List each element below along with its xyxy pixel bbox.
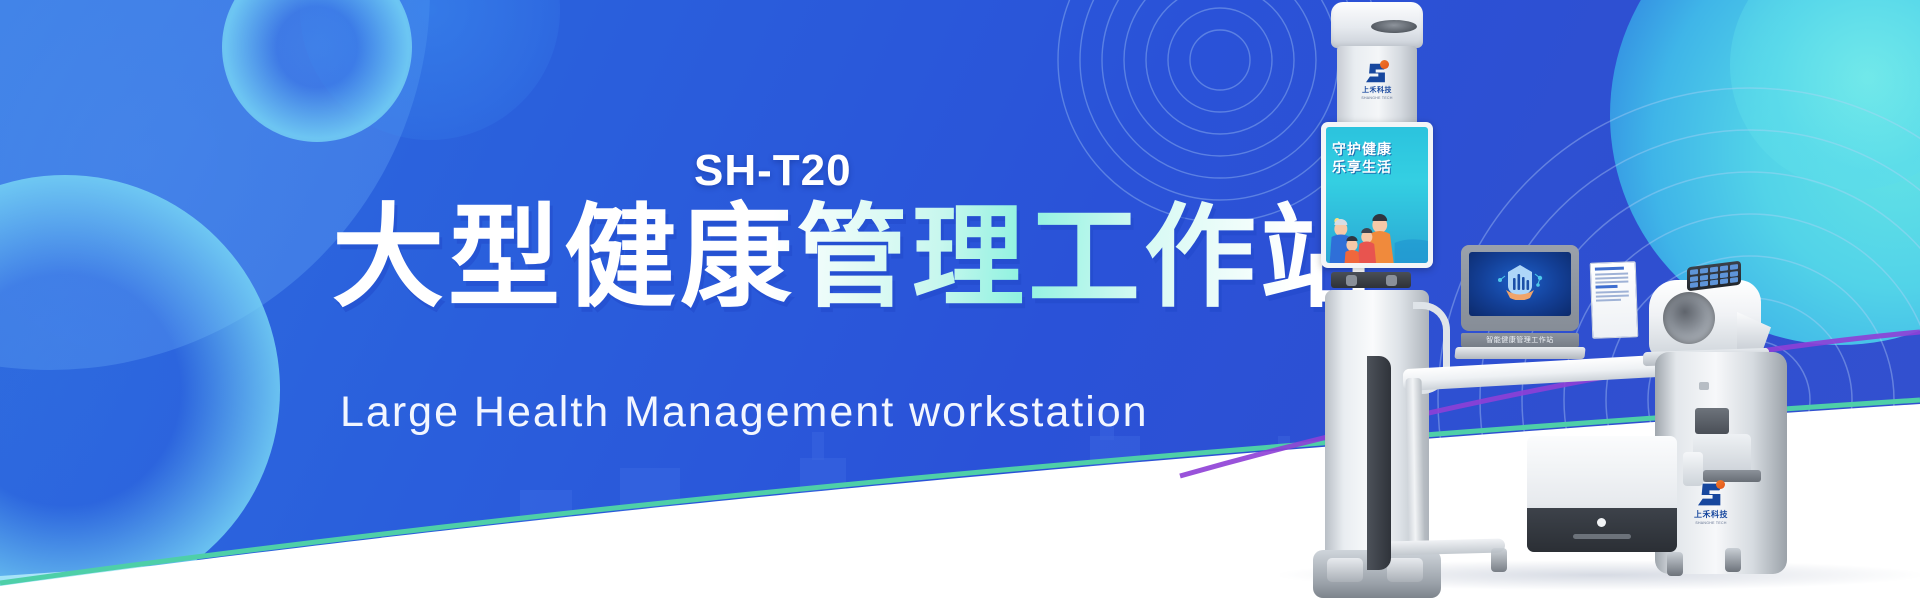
- sensor-pad-left: [1346, 275, 1357, 286]
- poster-headline-1: 守护健康: [1332, 139, 1392, 159]
- product-hero-banner: SH-T20 大型健康管理工作站 Large Health Management…: [0, 0, 1920, 600]
- cabinet-slot: [1699, 382, 1709, 390]
- kiosk-logo-text-en: SHANGHE TECH: [1361, 96, 1392, 100]
- product-image-group: 上禾科技 SHANGHE TECH 守护健康 乐享生活: [1255, 0, 1920, 600]
- printer-power-button[interactable]: [1597, 518, 1606, 527]
- poster-headline-2: 乐享生活: [1332, 157, 1392, 177]
- kiosk-display[interactable]: 守护健康 乐享生活: [1321, 122, 1433, 268]
- kiosk-height-sensor-head: [1331, 2, 1423, 48]
- printer-grip: [1573, 534, 1631, 539]
- kiosk-logo-text-cn: 上禾科技: [1362, 85, 1392, 95]
- cabinet-mini-screen[interactable]: [1695, 408, 1729, 434]
- kiosk-brand-logo: 上禾科技 SHANGHE TECH: [1353, 60, 1401, 102]
- laptop-caption: 智能健康管理工作站: [1461, 333, 1579, 347]
- bpm-arm-cuff-opening: [1663, 292, 1715, 344]
- cabinet-logo-text-en: SHANGHE TECH: [1695, 521, 1726, 525]
- workstation-laptop: 智能健康管理工作站: [1461, 245, 1579, 363]
- cabinet-side-panel: [1367, 356, 1391, 570]
- cabinet-caster-2: [1725, 548, 1741, 572]
- family-illustration: [1326, 203, 1428, 263]
- cabinet-logo-text-cn: 上禾科技: [1694, 509, 1728, 520]
- info-leaflet-card: [1590, 261, 1639, 339]
- kiosk-grip-sensors[interactable]: [1331, 272, 1411, 288]
- health-shield-icon: [1494, 260, 1546, 300]
- laptop-lid: 智能健康管理工作站: [1461, 245, 1579, 331]
- ultrasonic-sensor-icon: [1371, 20, 1417, 33]
- kiosk-display-poster: 守护健康 乐享生活: [1326, 127, 1428, 263]
- desk-foot-left: [1385, 538, 1505, 555]
- shanghe-logo-icon: [1366, 62, 1388, 84]
- cabinet-caster-3: [1491, 548, 1507, 572]
- printer-output-slot: [1527, 508, 1677, 552]
- shanghe-logo-icon-cabinet: [1698, 482, 1724, 508]
- desk-leg-left: [1406, 378, 1425, 546]
- cabinet-caster-1: [1667, 552, 1683, 576]
- laptop-keyboard-base: [1454, 347, 1585, 359]
- cabinet-brand-logo: 上禾科技 SHANGHE TECH: [1683, 480, 1739, 526]
- kiosk-footprint-right: [1387, 558, 1423, 582]
- kiosk-footprint-left: [1327, 558, 1363, 582]
- sensor-pad-right: [1386, 275, 1397, 286]
- laptop-screen[interactable]: [1469, 252, 1571, 316]
